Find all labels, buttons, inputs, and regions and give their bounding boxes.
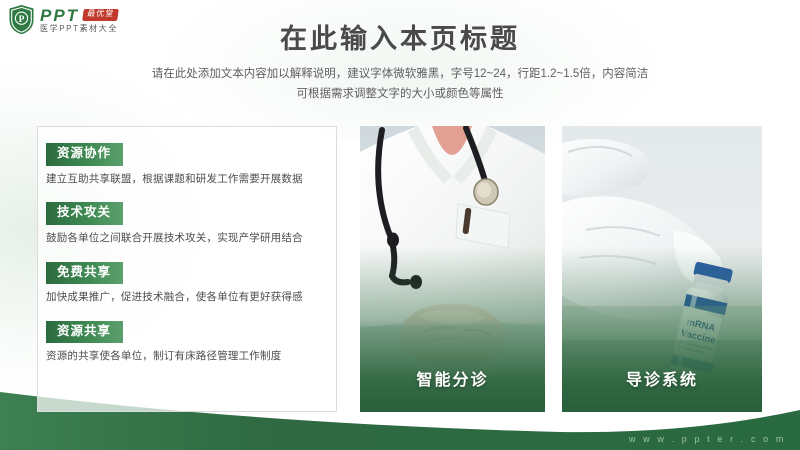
- photo-caption: 智能分诊: [360, 366, 545, 390]
- page-subtitle: 请在此处添加文本内容加以解释说明，建议字体微软雅黑，字号12~24，行距1.2~…: [0, 64, 800, 104]
- feature-tag: 技术攻关: [46, 202, 123, 225]
- footer-url: w w w . p p t e r . c o m: [629, 434, 786, 444]
- feature-item[interactable]: 技术攻关 鼓励各单位之间联合开展技术攻关，实现产学研用结合: [46, 202, 336, 245]
- feature-tag: 免费共享: [46, 262, 123, 285]
- subtitle-line-2: 可根据需求调整文字的大小或颜色等属性: [0, 84, 800, 104]
- feature-item[interactable]: 资源共享 资源的共享使各单位，制订有床路径管理工作制度: [46, 321, 336, 364]
- feature-tag: 资源协作: [46, 143, 123, 166]
- shield-icon: P: [8, 4, 35, 35]
- logo-wordmark: PPT: [40, 7, 79, 24]
- feature-description: 资源的共享使各单位，制订有床路径管理工作制度: [46, 350, 336, 364]
- logo-tagline: 医学PPT素材大全: [40, 25, 118, 33]
- subtitle-line-1: 请在此处添加文本内容加以解释说明，建议字体微软雅黑，字号12~24，行距1.2~…: [0, 64, 800, 84]
- page-title: 在此输入本页标题: [0, 17, 800, 56]
- feature-tag: 资源共享: [46, 321, 123, 344]
- feature-description: 鼓励各单位之间联合开展技术攻关，实现产学研用结合: [46, 232, 336, 246]
- feature-item[interactable]: 资源协作 建立互助共享联盟，根据课题和研发工作需要开展数据: [46, 143, 336, 186]
- feature-item[interactable]: 免费共享 加快成果推广，促进技术融合，使各单位有更好获得感: [46, 262, 336, 305]
- photo-panel-guidance[interactable]: mRNA Vaccine 导诊系统: [562, 126, 762, 412]
- feature-description: 加快成果推广，促进技术融合，使各单位有更好获得感: [46, 291, 336, 305]
- feature-description: 建立互助共享联盟，根据课题和研发工作需要开展数据: [46, 173, 336, 187]
- photo-panel-triage[interactable]: 智能分诊: [360, 126, 545, 412]
- svg-text:P: P: [19, 15, 25, 25]
- feature-list: 资源协作 建立互助共享联盟，根据课题和研发工作需要开展数据 技术攻关 鼓励各单位…: [46, 143, 336, 364]
- brand-logo: P PPT 最优堂 医学PPT素材大全: [8, 4, 118, 35]
- photo-caption: 导诊系统: [562, 366, 762, 390]
- logo-badge: 最优堂: [82, 9, 119, 21]
